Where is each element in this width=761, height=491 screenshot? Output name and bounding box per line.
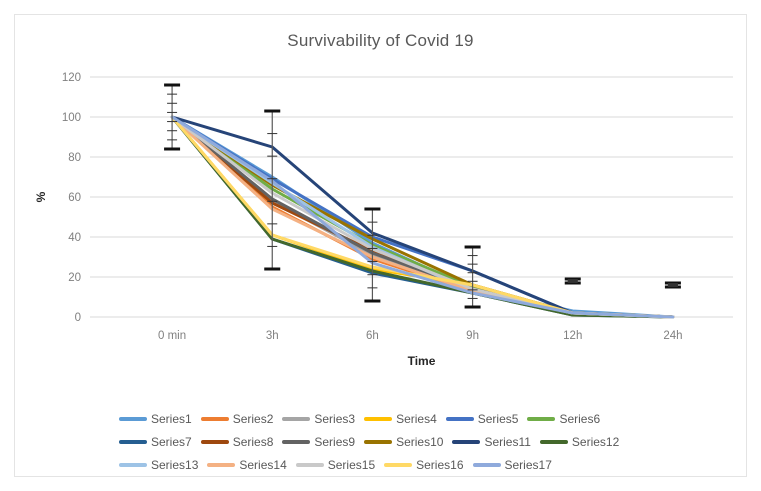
series-line <box>172 117 673 317</box>
x-tick-label: 12h <box>563 330 582 342</box>
legend-label: Series1 <box>151 412 192 426</box>
legend-label: Series11 <box>484 435 530 449</box>
legend-item-series5[interactable]: Series5 <box>446 412 519 426</box>
y-tick-label: 40 <box>68 232 81 244</box>
x-tick-label: 6h <box>366 330 379 342</box>
legend-label: Series12 <box>572 435 619 449</box>
legend-label: Series6 <box>559 412 600 426</box>
legend-swatch-icon <box>119 417 147 421</box>
y-tick-label: 0 <box>75 312 81 324</box>
legend-label: Series3 <box>314 412 355 426</box>
series-line <box>172 117 673 317</box>
series-line <box>172 117 673 317</box>
legend-label: Series9 <box>314 435 355 449</box>
legend-swatch-icon <box>201 440 229 444</box>
legend-item-series13[interactable]: Series13 <box>119 458 198 472</box>
legend-swatch-icon <box>282 417 310 421</box>
legend-swatch-icon <box>446 417 474 421</box>
chart-container: Survivability of Covid 19 02040608010012… <box>14 14 747 477</box>
legend-swatch-icon <box>201 417 229 421</box>
series-line <box>172 117 673 317</box>
legend-label: Series16 <box>416 458 463 472</box>
legend-swatch-icon <box>473 463 501 467</box>
legend-item-series15[interactable]: Series15 <box>296 458 375 472</box>
legend-item-series11[interactable]: Series11 <box>452 435 530 449</box>
y-tick-label: 20 <box>68 272 81 284</box>
legend-item-series8[interactable]: Series8 <box>201 435 274 449</box>
legend-swatch-icon <box>119 463 147 467</box>
series-line <box>172 117 673 317</box>
series-line <box>172 117 673 317</box>
legend-item-series12[interactable]: Series12 <box>540 435 619 449</box>
legend-row: Series7Series8Series9Series10Series11Ser… <box>119 430 679 453</box>
series-lines-group <box>172 117 673 317</box>
legend-swatch-icon <box>207 463 235 467</box>
legend-swatch-icon <box>119 440 147 444</box>
legend-swatch-icon <box>364 440 392 444</box>
legend-label: Series5 <box>478 412 519 426</box>
legend-label: Series17 <box>505 458 552 472</box>
legend-item-series9[interactable]: Series9 <box>282 435 355 449</box>
x-axis-title: Time <box>408 354 436 368</box>
legend-item-series16[interactable]: Series16 <box>384 458 463 472</box>
legend-label: Series13 <box>151 458 198 472</box>
legend-item-series3[interactable]: Series3 <box>282 412 355 426</box>
x-tick-label: 0 min <box>158 330 186 342</box>
series-line <box>172 117 673 317</box>
legend-item-series2[interactable]: Series2 <box>201 412 274 426</box>
legend-item-series17[interactable]: Series17 <box>473 458 552 472</box>
legend-swatch-icon <box>364 417 392 421</box>
legend-item-series6[interactable]: Series6 <box>527 412 600 426</box>
series-line <box>172 117 673 317</box>
legend-label: Series7 <box>151 435 192 449</box>
legend-item-series4[interactable]: Series4 <box>364 412 437 426</box>
legend-item-series7[interactable]: Series7 <box>119 435 192 449</box>
legend-swatch-icon <box>540 440 568 444</box>
series-line <box>172 117 673 317</box>
y-tick-label: 60 <box>68 192 81 204</box>
legend-swatch-icon <box>384 463 412 467</box>
legend-label: Series8 <box>233 435 274 449</box>
series-line <box>172 117 673 317</box>
y-tick-label: 120 <box>62 72 81 84</box>
legend-item-series10[interactable]: Series10 <box>364 435 443 449</box>
legend-label: Series14 <box>239 458 286 472</box>
series-line <box>172 117 673 317</box>
y-axis-title: % <box>34 191 48 202</box>
series-line <box>172 117 673 317</box>
legend-label: Series10 <box>396 435 443 449</box>
legend-label: Series15 <box>328 458 375 472</box>
x-axis-tick-labels: 0 min3h6h9h12h24h <box>158 330 682 342</box>
legend-swatch-icon <box>296 463 324 467</box>
legend-row: Series1Series2Series3Series4Series5Serie… <box>119 407 679 430</box>
series-line <box>172 117 673 317</box>
legend-swatch-icon <box>282 440 310 444</box>
chart-legend: Series1Series2Series3Series4Series5Serie… <box>119 407 679 476</box>
y-axis-tick-labels: 020406080100120 <box>62 72 81 324</box>
legend-label: Series2 <box>233 412 274 426</box>
legend-swatch-icon <box>452 440 480 444</box>
x-tick-label: 3h <box>266 330 279 342</box>
series-line <box>172 117 673 317</box>
series-line <box>172 117 673 317</box>
series-line <box>172 117 673 317</box>
y-tick-label: 100 <box>62 112 81 124</box>
legend-item-series1[interactable]: Series1 <box>119 412 192 426</box>
x-tick-label: 24h <box>663 330 682 342</box>
y-tick-label: 80 <box>68 152 81 164</box>
legend-swatch-icon <box>527 417 555 421</box>
series-line <box>172 117 673 317</box>
legend-item-series14[interactable]: Series14 <box>207 458 286 472</box>
x-tick-label: 9h <box>466 330 479 342</box>
legend-label: Series4 <box>396 412 437 426</box>
legend-row: Series13Series14Series15Series16Series17 <box>119 453 679 476</box>
